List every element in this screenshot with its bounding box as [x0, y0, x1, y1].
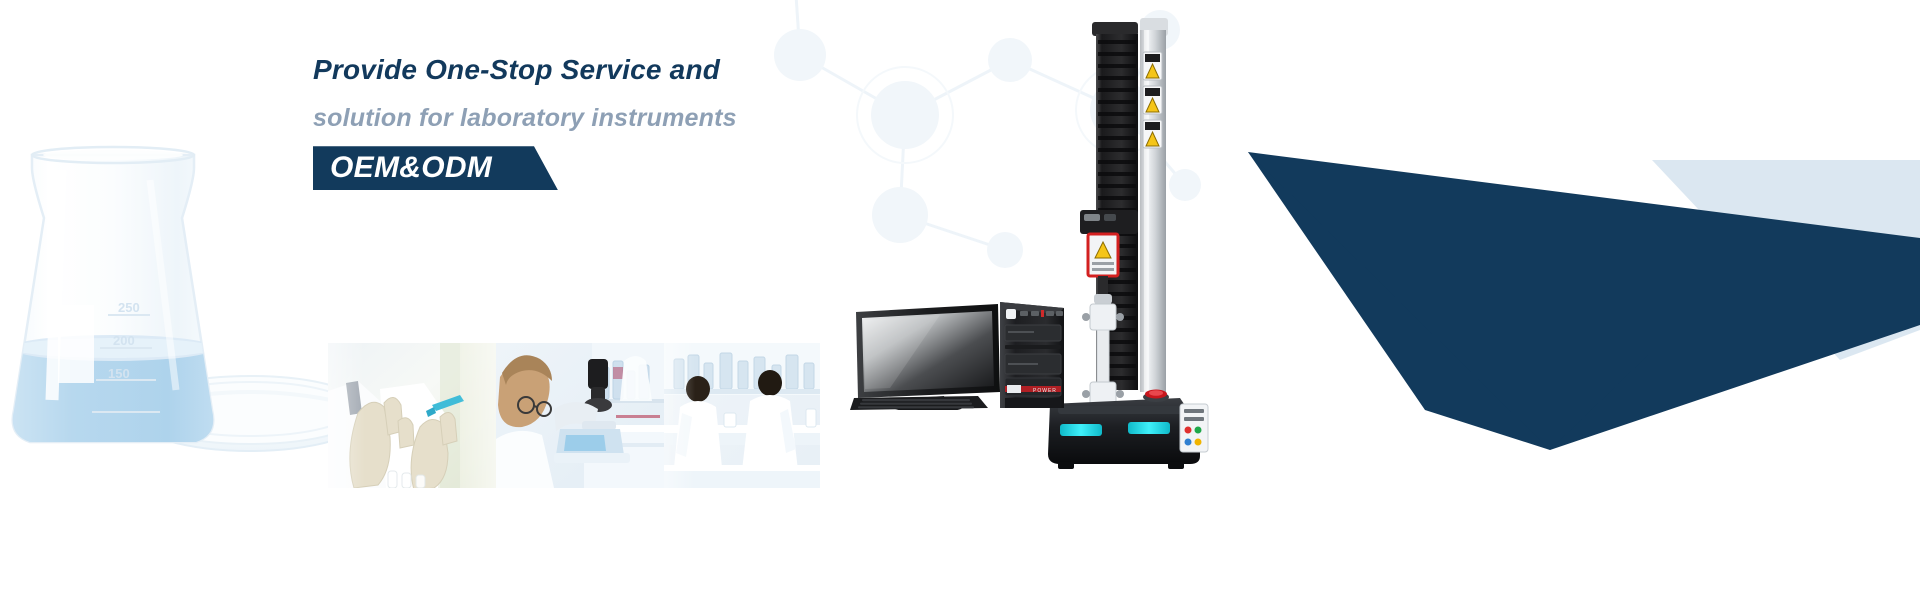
erlenmeyer-flask: 250 200 150 [0, 147, 240, 468]
headline-line-2: solution for laboratory instruments [313, 105, 1073, 133]
svg-text:POWER: POWER [1033, 388, 1057, 394]
flask-graduation-label: 200 [113, 333, 135, 348]
hero-banner: 250 200 150 Provide One-Stop Service and… [0, 0, 1920, 597]
flask-graduation-label: 250 [118, 300, 140, 315]
oem-odm-badge: OEM&ODM [313, 146, 558, 190]
keyboard [850, 396, 988, 410]
base-accent-light [1060, 424, 1102, 436]
base-accent-light [1128, 422, 1170, 434]
photo-lab-team [664, 343, 820, 488]
photo-pipetting [328, 343, 496, 488]
photo-microscope [496, 343, 664, 488]
lab-photo-strip [328, 343, 820, 488]
badge-label: OEM&ODM [330, 150, 492, 186]
lcd-monitor [856, 304, 1000, 410]
computer-tower: POWER [1000, 302, 1064, 408]
headline-block: Provide One-Stop Service and solution fo… [313, 55, 1073, 190]
product-cluster: POWER [1040, 0, 1380, 560]
flask-graduation-label: 150 [108, 366, 130, 381]
desktop-computer: POWER [850, 300, 1090, 410]
warning-label-group [1143, 52, 1162, 148]
headline-line-1: Provide One-Stop Service and [313, 55, 1073, 86]
